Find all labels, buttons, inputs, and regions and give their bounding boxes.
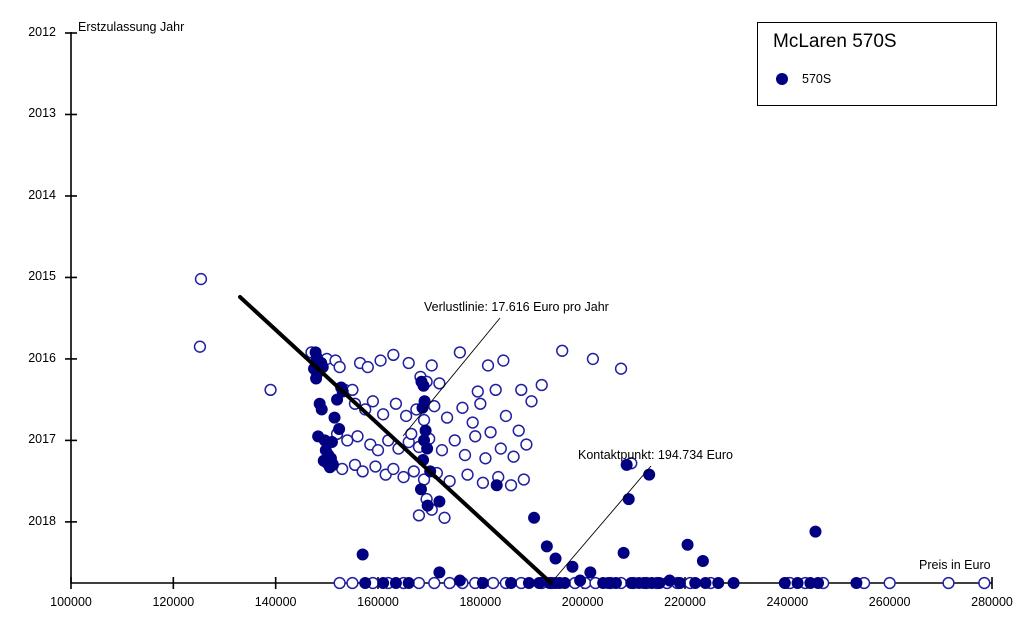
legend-marker-icon xyxy=(776,73,788,85)
open-markers-group xyxy=(195,274,990,589)
legend-box: McLaren 570S 570S xyxy=(757,22,997,106)
x-tick-label: 180000 xyxy=(435,595,525,609)
x-tick-label: 220000 xyxy=(640,595,730,609)
y-tick-label: 2017 xyxy=(0,432,56,446)
y-tick-label: 2014 xyxy=(0,188,56,202)
y-tick-label: 2012 xyxy=(0,25,56,39)
x-tick-label: 140000 xyxy=(231,595,321,609)
chart-canvas: Erstzulassung Jahr Preis in Euro 2012201… xyxy=(0,0,1020,620)
trendline-group xyxy=(240,297,551,583)
legend-entry-label: 570S xyxy=(802,72,831,86)
x-tick-label: 260000 xyxy=(845,595,935,609)
x-tick-label: 160000 xyxy=(333,595,423,609)
y-tick-label: 2015 xyxy=(0,269,56,283)
annotation-verlustlinie: Verlustlinie: 17.616 Euro pro Jahr xyxy=(424,300,609,314)
y-tick-label: 2016 xyxy=(0,351,56,365)
x-tick-label: 120000 xyxy=(128,595,218,609)
x-tick-label: 200000 xyxy=(538,595,628,609)
x-tick-label: 100000 xyxy=(26,595,116,609)
annotation-kontaktpunkt: Kontaktpunkt: 194.734 Euro xyxy=(578,448,733,462)
y-tick-label: 2018 xyxy=(0,514,56,528)
x-tick-label: 240000 xyxy=(742,595,832,609)
legend-title: McLaren 570S xyxy=(773,31,897,53)
y-tick-label: 2013 xyxy=(0,106,56,120)
x-tick-label: 280000 xyxy=(947,595,1020,609)
